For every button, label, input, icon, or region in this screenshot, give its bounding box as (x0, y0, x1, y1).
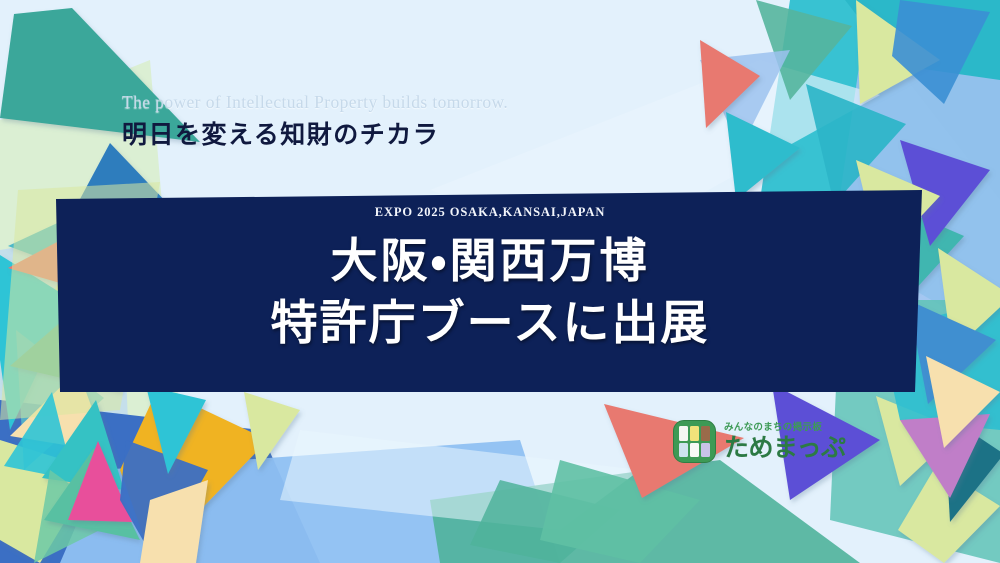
tamemap-icon-tile-3 (701, 426, 710, 441)
tamemap-icon-tile-6 (701, 443, 710, 458)
tagline-block: The power of Intellectual Property build… (122, 92, 508, 150)
tamemap-icon-tile-4 (679, 443, 688, 458)
tagline-english: The power of Intellectual Property build… (122, 92, 508, 114)
tamemap-logo-name: ためまっぷ (724, 435, 846, 460)
tamemap-icon-tile-1 (679, 426, 688, 441)
tagline-japanese: 明日を変える知財のチカラ (122, 119, 508, 150)
navy-banner (0, 0, 1000, 563)
navy-banner-shape (0, 0, 1000, 563)
tamemap-icon-tile-2 (690, 426, 699, 441)
tamemap-logo-text: みんなのまちの掲示板 ためまっぷ (724, 423, 846, 461)
tamemap-logo[interactable]: みんなのまちの掲示板 ためまっぷ (673, 420, 846, 463)
tamemap-logo-tagline: みんなのまちの掲示板 (724, 423, 846, 433)
poster-canvas: The power of Intellectual Property build… (0, 0, 1000, 563)
tamemap-icon-tile-5 (690, 443, 699, 458)
tamemap-icon (673, 420, 716, 463)
